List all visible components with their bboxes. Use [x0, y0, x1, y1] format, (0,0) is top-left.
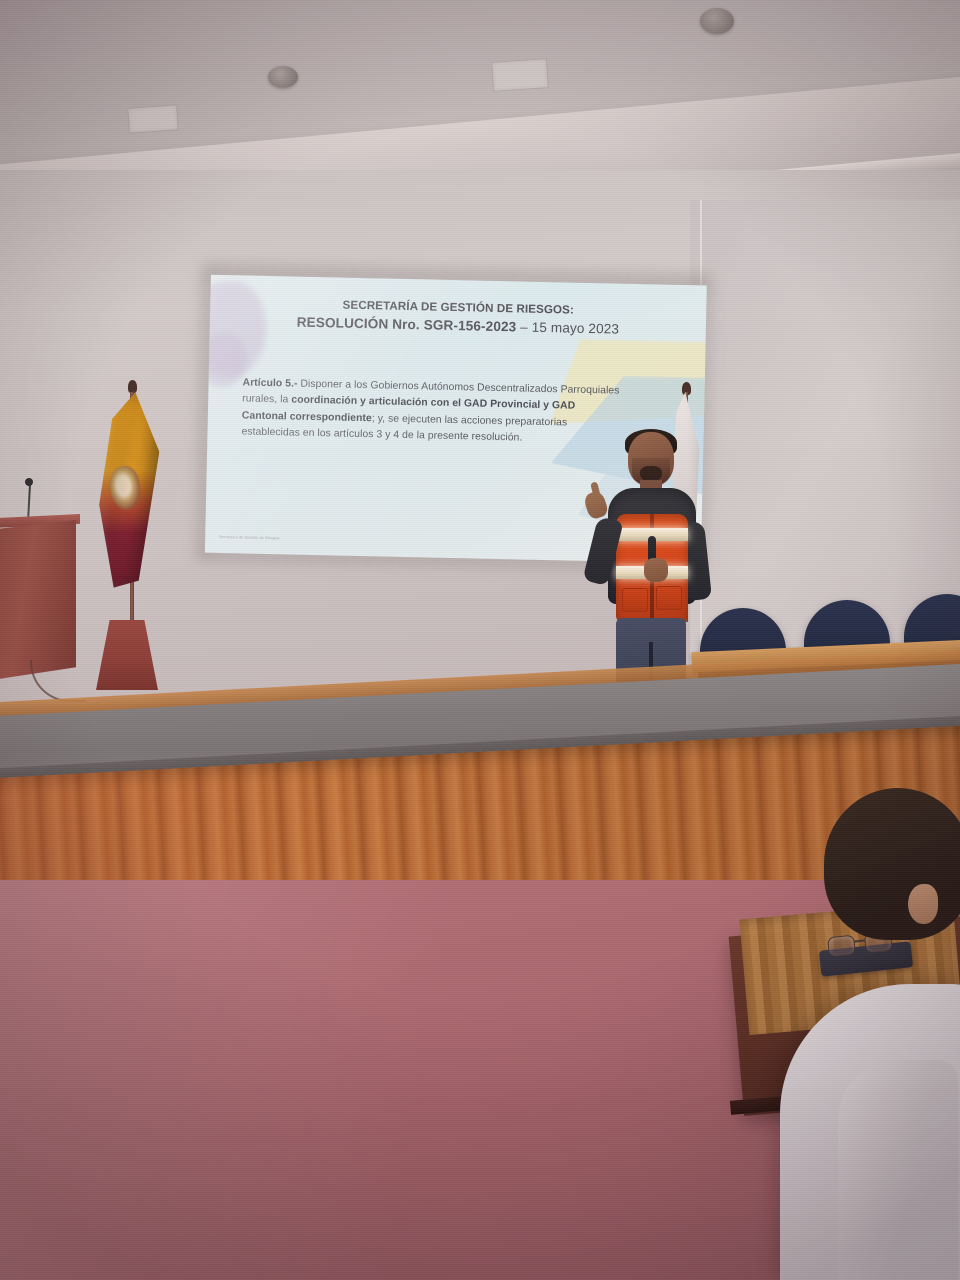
vest-pocket — [622, 588, 648, 612]
slide-resolution-number: RESOLUCIÓN Nro. SGR-156-2023 — [297, 314, 517, 334]
slide-article-label: Artículo 5.- — [242, 377, 297, 389]
presenter-right-hand — [644, 558, 668, 582]
eyeglasses-lens — [827, 935, 856, 958]
microphone-head-icon — [25, 478, 33, 486]
ceiling-downlight-icon — [700, 8, 734, 34]
audience-member-ear — [908, 884, 938, 924]
ceiling-downlight-icon — [268, 66, 298, 88]
lectern — [0, 520, 76, 680]
vest-pocket — [656, 586, 682, 610]
slide-footer-text: Secretaría de Gestión de Riesgos — [219, 535, 279, 540]
shirt-fold-highlight — [838, 1060, 958, 1280]
ceiling-vent-icon — [127, 104, 179, 133]
audience-member-head — [824, 788, 960, 940]
ceiling-vent-icon — [491, 58, 549, 92]
slide-body-text: Artículo 5.- Disponer a los Gobiernos Au… — [241, 375, 622, 449]
flag-folds — [93, 391, 162, 589]
slide-decor-purple-blob — [205, 332, 248, 387]
slide-title: SECRETARÍA DE GESTIÓN DE RIESGOS: RESOLU… — [236, 295, 681, 339]
presentation-photo: SECRETARÍA DE GESTIÓN DE RIESGOS: RESOLU… — [0, 0, 960, 1280]
ecuador-flag — [93, 391, 162, 589]
slide-resolution-date: – 15 mayo 2023 — [516, 319, 619, 336]
